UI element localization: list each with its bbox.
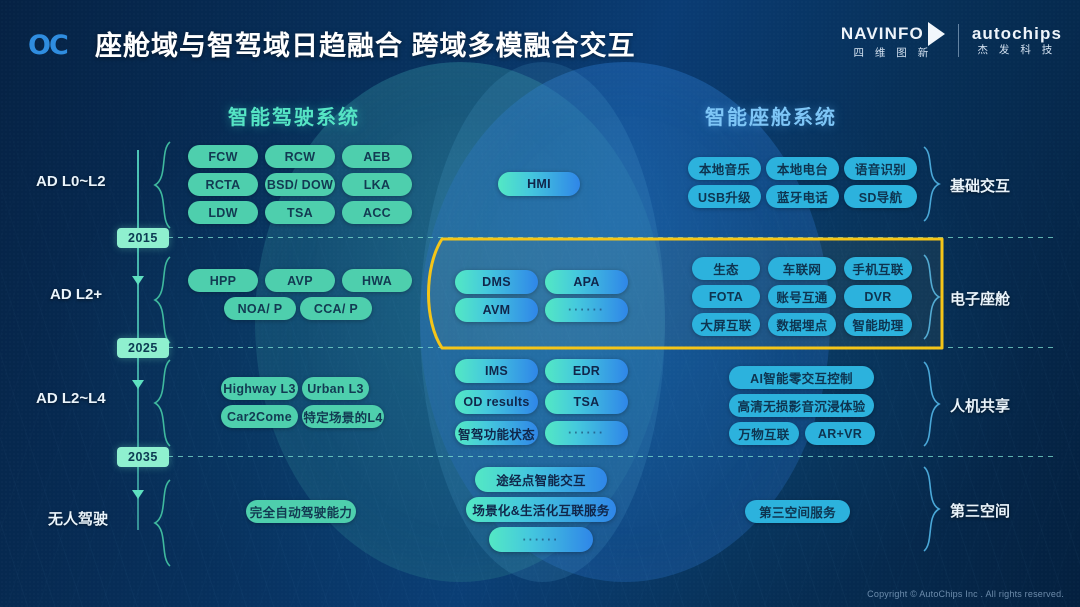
- center-pill-2-2[interactable]: OD results: [455, 390, 538, 414]
- center-pill-1-0[interactable]: DMS: [455, 270, 538, 294]
- navinfo-logo-cn: 四 维 图 新: [853, 48, 932, 59]
- left-pill-3-0[interactable]: 完全自动驾驶能力: [246, 500, 356, 523]
- right-pill-1-1[interactable]: 车联网: [768, 257, 836, 280]
- brace-right-2: [920, 360, 942, 448]
- right-pill-1-7[interactable]: 数据埋点: [768, 313, 836, 336]
- left-pill-2-1[interactable]: Urban L3: [302, 377, 369, 400]
- autochips-logo-en: autochips: [972, 25, 1062, 43]
- brace-right-3: [920, 465, 942, 553]
- oc-logo: OC: [28, 30, 67, 61]
- navinfo-logo-en: NAVINFO: [841, 25, 924, 43]
- copyright-text: Copyright © AutoChips Inc . All rights r…: [867, 589, 1064, 599]
- navinfo-arrow-icon: [928, 22, 945, 46]
- center-pill-2-1[interactable]: EDR: [545, 359, 628, 383]
- right-pill-3-0[interactable]: 第三空间服务: [745, 500, 850, 523]
- right-label-2: 人机共享: [950, 395, 1010, 416]
- left-pill-0-5[interactable]: LKA: [342, 173, 412, 196]
- right-label-1: 电子座舱: [950, 288, 1010, 309]
- right-pill-0-5[interactable]: SD导航: [844, 185, 917, 208]
- brand-divider: [958, 24, 959, 57]
- ad-level-label-2: AD L2~L4: [36, 390, 106, 407]
- right-pill-1-8[interactable]: 智能助理: [844, 313, 912, 336]
- brand-logos: NAVINFO 四 维 图 新 autochips 杰 发 科 技: [841, 22, 1062, 59]
- center-pill-1-1[interactable]: APA: [545, 270, 628, 294]
- section-title-cockpit: 智能座舱系统: [705, 101, 837, 130]
- center-pill-2-0[interactable]: IMS: [455, 359, 538, 383]
- header-bar: OC 座舱域与智驾域日趋融合 跨域多模融合交互 NAVINFO 四 维 图 新 …: [0, 0, 1080, 82]
- right-pill-0-3[interactable]: USB升级: [688, 185, 761, 208]
- right-pill-0-0[interactable]: 本地音乐: [688, 157, 761, 180]
- timeline-divider-2015: [168, 237, 1058, 238]
- right-pill-0-2[interactable]: 语音识别: [844, 157, 917, 180]
- autochips-logo-cn: 杰 发 科 技: [978, 45, 1057, 56]
- brace-left-2: [152, 358, 174, 448]
- right-label-3: 第三空间: [950, 500, 1010, 521]
- left-pill-1-3[interactable]: NOA/ P: [224, 297, 296, 320]
- left-pill-1-4[interactable]: CCA/ P: [300, 297, 372, 320]
- brace-left-0: [152, 140, 174, 230]
- section-title-driving: 智能驾驶系统: [228, 101, 360, 130]
- right-pill-1-6[interactable]: 大屏互联: [692, 313, 760, 336]
- right-pill-0-1[interactable]: 本地电台: [766, 157, 839, 180]
- left-pill-0-6[interactable]: LDW: [188, 201, 258, 224]
- left-pill-0-0[interactable]: FCW: [188, 145, 258, 168]
- right-pill-2-3[interactable]: AR+VR: [805, 422, 875, 445]
- center-pill-2-4[interactable]: 智驾功能状态: [455, 421, 538, 445]
- left-pill-0-1[interactable]: RCW: [265, 145, 335, 168]
- left-pill-0-4[interactable]: BSD/ DOW: [265, 173, 335, 196]
- left-pill-0-2[interactable]: AEB: [342, 145, 412, 168]
- timeline-divider-2035: [168, 456, 1058, 457]
- right-pill-2-2[interactable]: 万物互联: [729, 422, 799, 445]
- left-pill-1-1[interactable]: AVP: [265, 269, 335, 292]
- ad-level-label-3: 无人驾驶: [48, 508, 108, 529]
- year-badge-2035: 2035: [117, 447, 169, 467]
- center-pill-2-5[interactable]: ······: [545, 421, 628, 445]
- page-title: 座舱域与智驾域日趋融合 跨域多模融合交互: [95, 24, 636, 63]
- slide-canvas: OC 座舱域与智驾域日趋融合 跨域多模融合交互 NAVINFO 四 维 图 新 …: [0, 0, 1080, 607]
- navinfo-logo: NAVINFO 四 维 图 新: [841, 22, 945, 59]
- left-pill-0-7[interactable]: TSA: [265, 201, 335, 224]
- right-pill-2-0[interactable]: AI智能零交互控制: [729, 366, 874, 389]
- brace-left-3: [152, 478, 174, 568]
- right-pill-1-4[interactable]: 账号互通: [768, 285, 836, 308]
- left-pill-1-0[interactable]: HPP: [188, 269, 258, 292]
- left-pill-0-8[interactable]: ACC: [342, 201, 412, 224]
- center-pill-1-2[interactable]: AVM: [455, 298, 538, 322]
- right-pill-2-1[interactable]: 高清无损影音沉浸体验: [729, 394, 874, 417]
- brace-right-0: [920, 145, 942, 223]
- center-pill-1-3[interactable]: ······: [545, 298, 628, 322]
- center-pill-2-3[interactable]: TSA: [545, 390, 628, 414]
- left-pill-2-0[interactable]: Highway L3: [221, 377, 298, 400]
- right-pill-1-0[interactable]: 生态: [692, 257, 760, 280]
- center-pill-3-0[interactable]: 途经点智能交互: [475, 467, 607, 492]
- timeline-arrow-1-icon: [132, 276, 144, 285]
- center-pill-3-1[interactable]: 场景化&生活化互联服务: [466, 497, 616, 522]
- timeline-arrow-3-icon: [132, 490, 144, 499]
- right-pill-1-2[interactable]: 手机互联: [844, 257, 912, 280]
- timeline-arrow-2-icon: [132, 380, 144, 389]
- center-pill-3-2[interactable]: ······: [489, 527, 593, 552]
- left-pill-0-3[interactable]: RCTA: [188, 173, 258, 196]
- brace-left-1: [152, 255, 174, 345]
- right-pill-0-4[interactable]: 蓝牙电话: [766, 185, 839, 208]
- ad-level-label-1: AD L2+: [50, 286, 102, 303]
- brace-right-1: [920, 253, 942, 341]
- ad-level-label-0: AD L0~L2: [36, 173, 106, 190]
- navinfo-logo-row: NAVINFO: [841, 22, 945, 46]
- left-pill-2-2[interactable]: Car2Come: [221, 405, 298, 428]
- autochips-logo: autochips 杰 发 科 技: [972, 25, 1062, 56]
- right-pill-1-3[interactable]: FOTA: [692, 285, 760, 308]
- timeline-divider-2025: [168, 347, 1058, 348]
- year-badge-2015: 2015: [117, 228, 169, 248]
- right-pill-1-5[interactable]: DVR: [844, 285, 912, 308]
- year-badge-2025: 2025: [117, 338, 169, 358]
- left-pill-2-3[interactable]: 特定场景的L4: [302, 405, 384, 428]
- left-pill-1-2[interactable]: HWA: [342, 269, 412, 292]
- right-label-0: 基础交互: [950, 175, 1010, 196]
- center-pill-0-0[interactable]: HMI: [498, 172, 580, 196]
